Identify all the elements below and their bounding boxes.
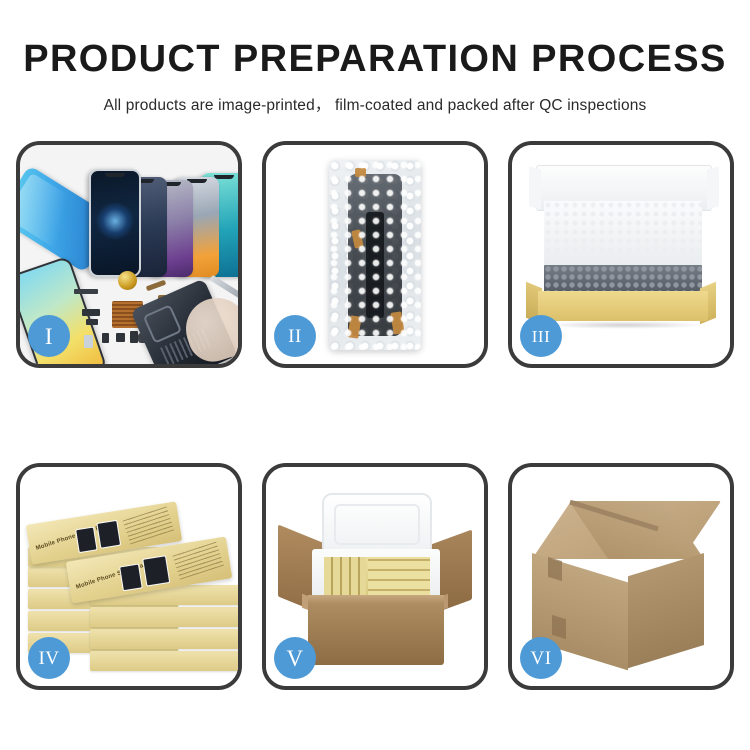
carton-tape-lower-icon	[552, 615, 566, 639]
packed-yellow-boxes-icon	[324, 557, 430, 599]
connector-bar-icon	[74, 289, 98, 294]
spec-lines-icon	[122, 506, 174, 545]
step-badge-5: V	[274, 637, 316, 679]
page-title: PRODUCT PREPARATION PROCESS	[0, 0, 750, 80]
step-panel-3[interactable]: III	[508, 141, 734, 368]
retail-box-icon	[90, 607, 238, 627]
notch-icon	[214, 175, 234, 179]
screw-icon	[130, 331, 138, 343]
notch-icon	[105, 173, 125, 177]
packed-parts-layer-icon	[544, 265, 702, 293]
retail-box-icon	[90, 629, 238, 649]
process-steps-grid: I II	[16, 141, 734, 690]
bubble-texture-icon	[329, 160, 421, 350]
phone-screen-fan	[90, 157, 238, 277]
step-badge-3: III	[520, 315, 562, 357]
step-badge-1: I	[28, 315, 70, 357]
product-window-icon	[96, 520, 121, 549]
step-panel-1[interactable]: I	[16, 141, 242, 368]
product-window-icon	[142, 555, 170, 586]
step-panel-4[interactable]: Mobile Phone Spare Parts Mobile Phone Sp…	[16, 463, 242, 690]
product-preparation-infographic: PRODUCT PREPARATION PROCESS All products…	[0, 0, 750, 750]
step-badge-2: II	[274, 315, 316, 357]
step-badge-6: VI	[520, 637, 562, 679]
carton-right-face-icon	[628, 553, 704, 668]
step-panel-5[interactable]: V	[262, 463, 488, 690]
retail-box-icon	[90, 651, 238, 671]
carton-tape-upper-icon	[548, 557, 562, 581]
product-window-icon	[75, 527, 98, 554]
sim-tray-icon	[84, 335, 93, 348]
header: PRODUCT PREPARATION PROCESS All products…	[0, 0, 750, 115]
step-panel-2[interactable]: II	[262, 141, 488, 368]
chip-icon	[82, 309, 100, 316]
step-badge-4: IV	[28, 637, 70, 679]
spec-lines-icon	[172, 541, 224, 580]
screw-icon	[116, 333, 125, 342]
page-subtitle: All products are image-printed， film-coa…	[0, 80, 750, 115]
phone-screen-front-glass-icon	[89, 169, 141, 277]
foam-sheet-icon	[544, 201, 702, 267]
product-window-icon	[119, 564, 143, 592]
bubble-wrap-bag-icon	[329, 160, 421, 350]
flex-cable-icon	[146, 280, 167, 292]
step-panel-6[interactable]: VI	[508, 463, 734, 690]
drop-shadow	[542, 321, 706, 329]
gold-coil-icon	[118, 271, 137, 290]
screw-icon	[102, 333, 109, 343]
carton-front-face-icon	[308, 603, 444, 665]
foam-case-lid-icon	[322, 493, 432, 557]
chip-icon	[86, 319, 98, 325]
kraft-box-front-icon	[538, 291, 708, 321]
